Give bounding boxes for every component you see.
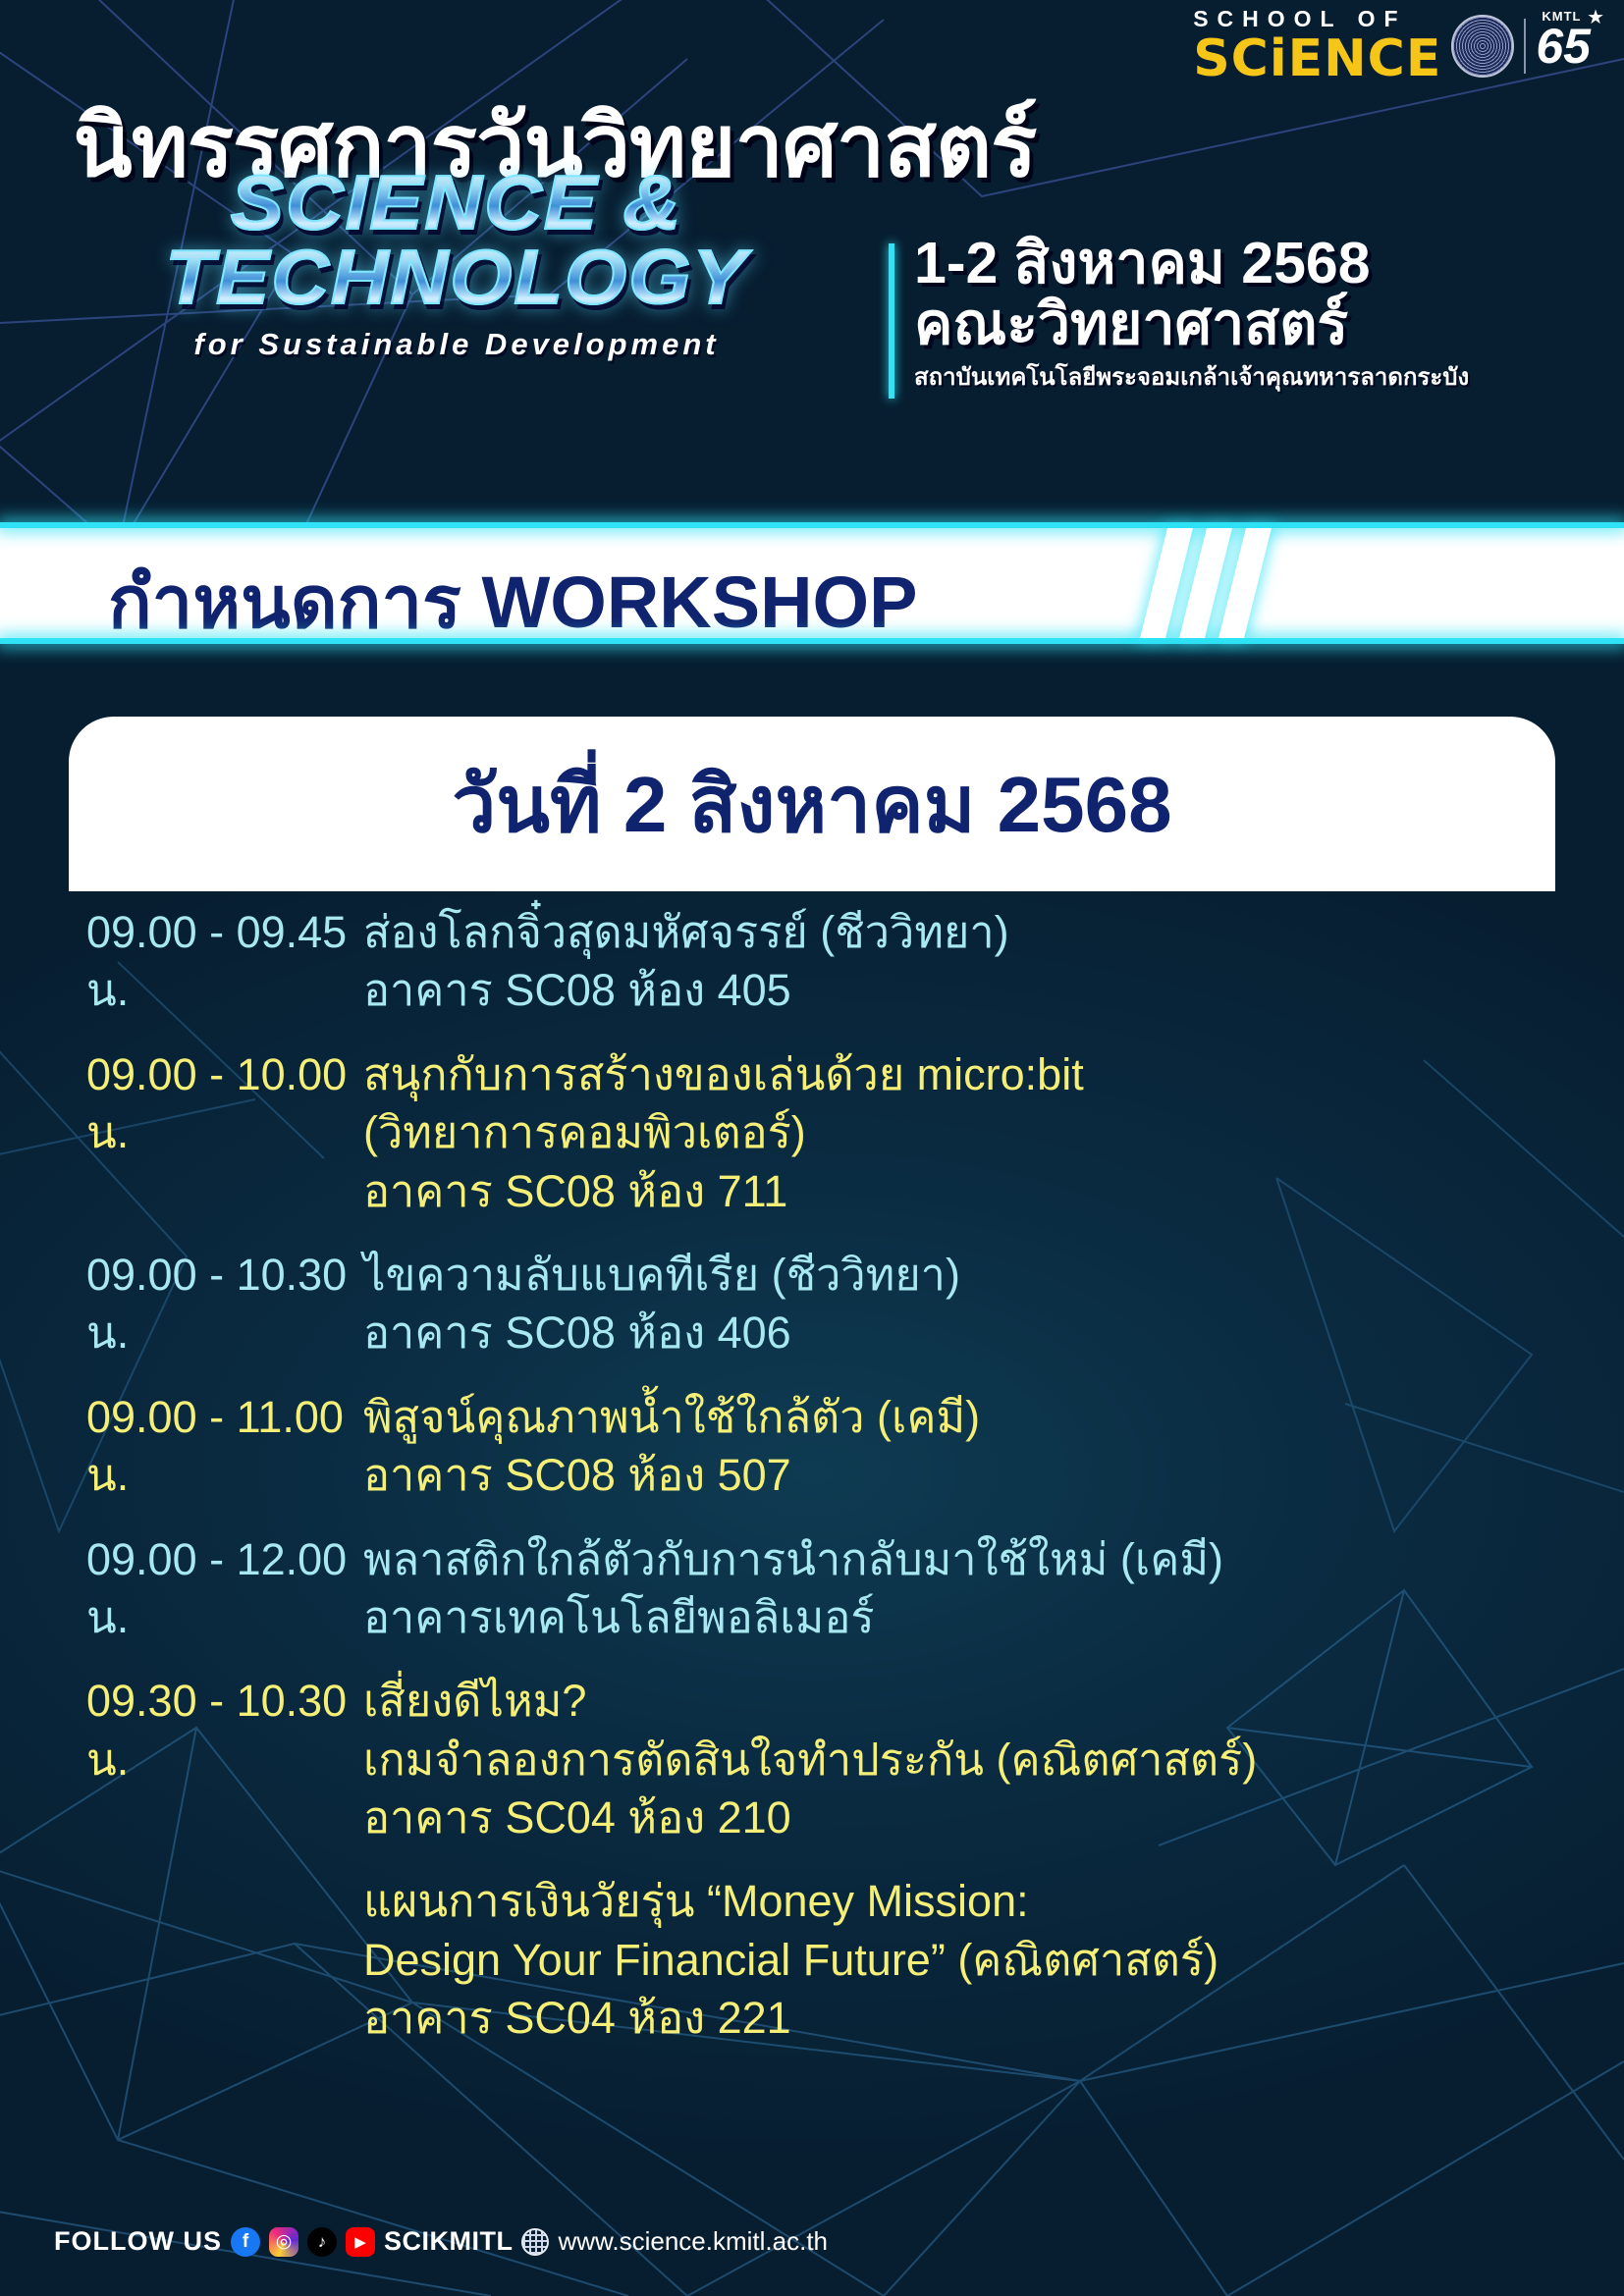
- schedule-row-line: ส่องโลกจิ๋วสุดมหัศจรรย์ (ชีววิทยา): [363, 903, 1571, 961]
- schedule-row: 09.00 - 12.00 น.พลาสติกใกล้ตัวกับการนำกล…: [69, 1530, 1571, 1647]
- schedule-row-detail: พลาสติกใกล้ตัวกับการนำกลับมาใช้ใหม่ (เคม…: [363, 1530, 1571, 1647]
- schedule-row-time: 09.00 - 11.00 น.: [69, 1388, 363, 1505]
- logo-line-1: SCIENCE &: [135, 165, 778, 240]
- schedule-row-time: 09.00 - 12.00 น.: [69, 1530, 363, 1647]
- kmitl-seal-icon: [1451, 15, 1514, 78]
- schedule-row-detail: เสี่ยงดีไหม?เกมจำลองการตัดสินใจทำประกัน …: [363, 1672, 1571, 1846]
- schedule-row-line: เกมจำลองการตัดสินใจทำประกัน (คณิตศาสตร์): [363, 1731, 1571, 1789]
- schedule-row-line: อาคาร SC04 ห้อง 210: [363, 1789, 1571, 1846]
- footer: FOLLOW US f ◎ ♪ ▶ SCIKMITL www.science.k…: [54, 2226, 828, 2257]
- schedule-row-time: 09.00 - 10.00 น.: [69, 1045, 363, 1220]
- poster-root: SCHOOL OF SCiENCE KMTL 65 ★ นิทรรศการวัน…: [0, 0, 1624, 2296]
- science-technology-logo: SCIENCE & TECHNOLOGY for Sustainable Dev…: [147, 165, 766, 362]
- schedule-row-line: Design Your Financial Future” (คณิตศาสตร…: [363, 1931, 1571, 1989]
- logo-tagline: for Sustainable Development: [147, 327, 766, 362]
- brand-school-of-label: SCHOOL OF: [1193, 8, 1406, 30]
- schedule-list: 09.00 - 09.45 น.ส่องโลกจิ๋วสุดมหัศจรรย์ …: [69, 903, 1571, 2073]
- date-card-title: วันที่ 2 สิงหาคม 2568: [452, 742, 1171, 867]
- poster-header: SCHOOL OF SCiENCE KMTL 65 ★ นิทรรศการวัน…: [0, 0, 1624, 491]
- schedule-row-line: เสี่ยงดีไหม?: [363, 1672, 1571, 1730]
- anniversary-number: 65: [1536, 19, 1591, 74]
- schedule-row-line: แผนการเงินวัยรุ่น “Money Mission:: [363, 1872, 1571, 1930]
- event-info-block: 1-2 สิงหาคม 2568 คณะวิทยาศาสตร์ สถาบันเท…: [889, 234, 1615, 396]
- anniversary-kmitl-label: KMTL: [1542, 11, 1581, 23]
- workshop-banner: กำหนดการ WORKSHOP: [0, 528, 1624, 638]
- website-url[interactable]: www.science.kmitl.ac.th: [558, 2226, 828, 2257]
- schedule-row-detail: ส่องโลกจิ๋วสุดมหัศจรรย์ (ชีววิทยา)อาคาร …: [363, 903, 1571, 1020]
- instagram-icon[interactable]: ◎: [269, 2227, 298, 2257]
- event-date: 1-2 สิงหาคม 2568: [914, 234, 1615, 294]
- schedule-row-line: อาคารเทคโนโลยีพอลิเมอร์: [363, 1588, 1571, 1646]
- schedule-row-detail: ไขความลับแบคทีเรีย (ชีววิทยา)อาคาร SC08 …: [363, 1246, 1571, 1362]
- brand-wordmark: SCHOOL OF SCiENCE: [1193, 8, 1441, 84]
- schedule-row-line: พิสูจน์คุณภาพน้ำใช้ใกล้ตัว (เคมี): [363, 1388, 1571, 1446]
- schedule-row-line: อาคาร SC08 ห้อง 405: [363, 961, 1571, 1019]
- schedule-row-line: พลาสติกใกล้ตัวกับการนำกลับมาใช้ใหม่ (เคม…: [363, 1530, 1571, 1588]
- youtube-icon[interactable]: ▶: [346, 2227, 375, 2257]
- brand-divider: [1524, 19, 1526, 74]
- schedule-row: 09.00 - 10.30 น.ไขความลับแบคทีเรีย (ชีวว…: [69, 1246, 1571, 1362]
- banner-slashes-decoration: [1154, 528, 1258, 638]
- facebook-icon[interactable]: f: [231, 2227, 260, 2257]
- schedule-row-detail: พิสูจน์คุณภาพน้ำใช้ใกล้ตัว (เคมี)อาคาร S…: [363, 1388, 1571, 1505]
- schedule-row-line: อาคาร SC04 ห้อง 221: [363, 1989, 1571, 2047]
- schedule-row-line: อาคาร SC08 ห้อง 711: [363, 1162, 1571, 1220]
- schedule-row-line: อาคาร SC08 ห้อง 406: [363, 1304, 1571, 1362]
- schedule-row-time: 09.00 - 09.45 น.: [69, 903, 363, 1020]
- social-handle: SCIKMITL: [384, 2226, 514, 2257]
- logo-line-2: TECHNOLOGY: [135, 240, 778, 314]
- event-faculty: คณะวิทยาศาสตร์: [914, 294, 1615, 355]
- schedule-row-line: ไขความลับแบคทีเรีย (ชีววิทยา): [363, 1246, 1571, 1304]
- schedule-row-time: [69, 1872, 363, 2047]
- schedule-row: 09.30 - 10.30 น.เสี่ยงดีไหม?เกมจำลองการต…: [69, 1672, 1571, 1846]
- globe-icon: [521, 2228, 549, 2256]
- tiktok-icon[interactable]: ♪: [307, 2227, 337, 2257]
- event-institute: สถาบันเทคโนโลยีพระจอมเกล้าเจ้าคุณทหารลาด…: [914, 357, 1615, 396]
- school-of-science-logo: SCHOOL OF SCiENCE KMTL 65 ★: [1193, 8, 1597, 84]
- anniversary-65-icon: KMTL 65 ★: [1536, 25, 1597, 69]
- follow-us-label: FOLLOW US: [54, 2226, 222, 2257]
- schedule-row: 09.00 - 11.00 น.พิสูจน์คุณภาพน้ำใช้ใกล้ต…: [69, 1388, 1571, 1505]
- schedule-row-line: อาคาร SC08 ห้อง 507: [363, 1446, 1571, 1504]
- schedule-row-detail: แผนการเงินวัยรุ่น “Money Mission:Design …: [363, 1872, 1571, 2047]
- schedule-row-line: สนุกกับการสร้างของเล่นด้วย micro:bit: [363, 1045, 1571, 1103]
- workshop-banner-title: กำหนดการ WORKSHOP: [108, 544, 917, 660]
- schedule-row-time: 09.30 - 10.30 น.: [69, 1672, 363, 1846]
- schedule-row: 09.00 - 09.45 น.ส่องโลกจิ๋วสุดมหัศจรรย์ …: [69, 903, 1571, 1020]
- schedule-row: 09.00 - 10.00 น.สนุกกับการสร้างของเล่นด้…: [69, 1045, 1571, 1220]
- date-card: วันที่ 2 สิงหาคม 2568: [69, 717, 1555, 891]
- star-icon: ★: [1587, 9, 1604, 27]
- schedule-row: แผนการเงินวัยรุ่น “Money Mission:Design …: [69, 1872, 1571, 2047]
- brand-science-label: SCiENCE: [1193, 33, 1441, 84]
- schedule-row-detail: สนุกกับการสร้างของเล่นด้วย micro:bit(วิท…: [363, 1045, 1571, 1220]
- schedule-row-time: 09.00 - 10.30 น.: [69, 1246, 363, 1362]
- schedule-row-line: (วิทยาการคอมพิวเตอร์): [363, 1103, 1571, 1161]
